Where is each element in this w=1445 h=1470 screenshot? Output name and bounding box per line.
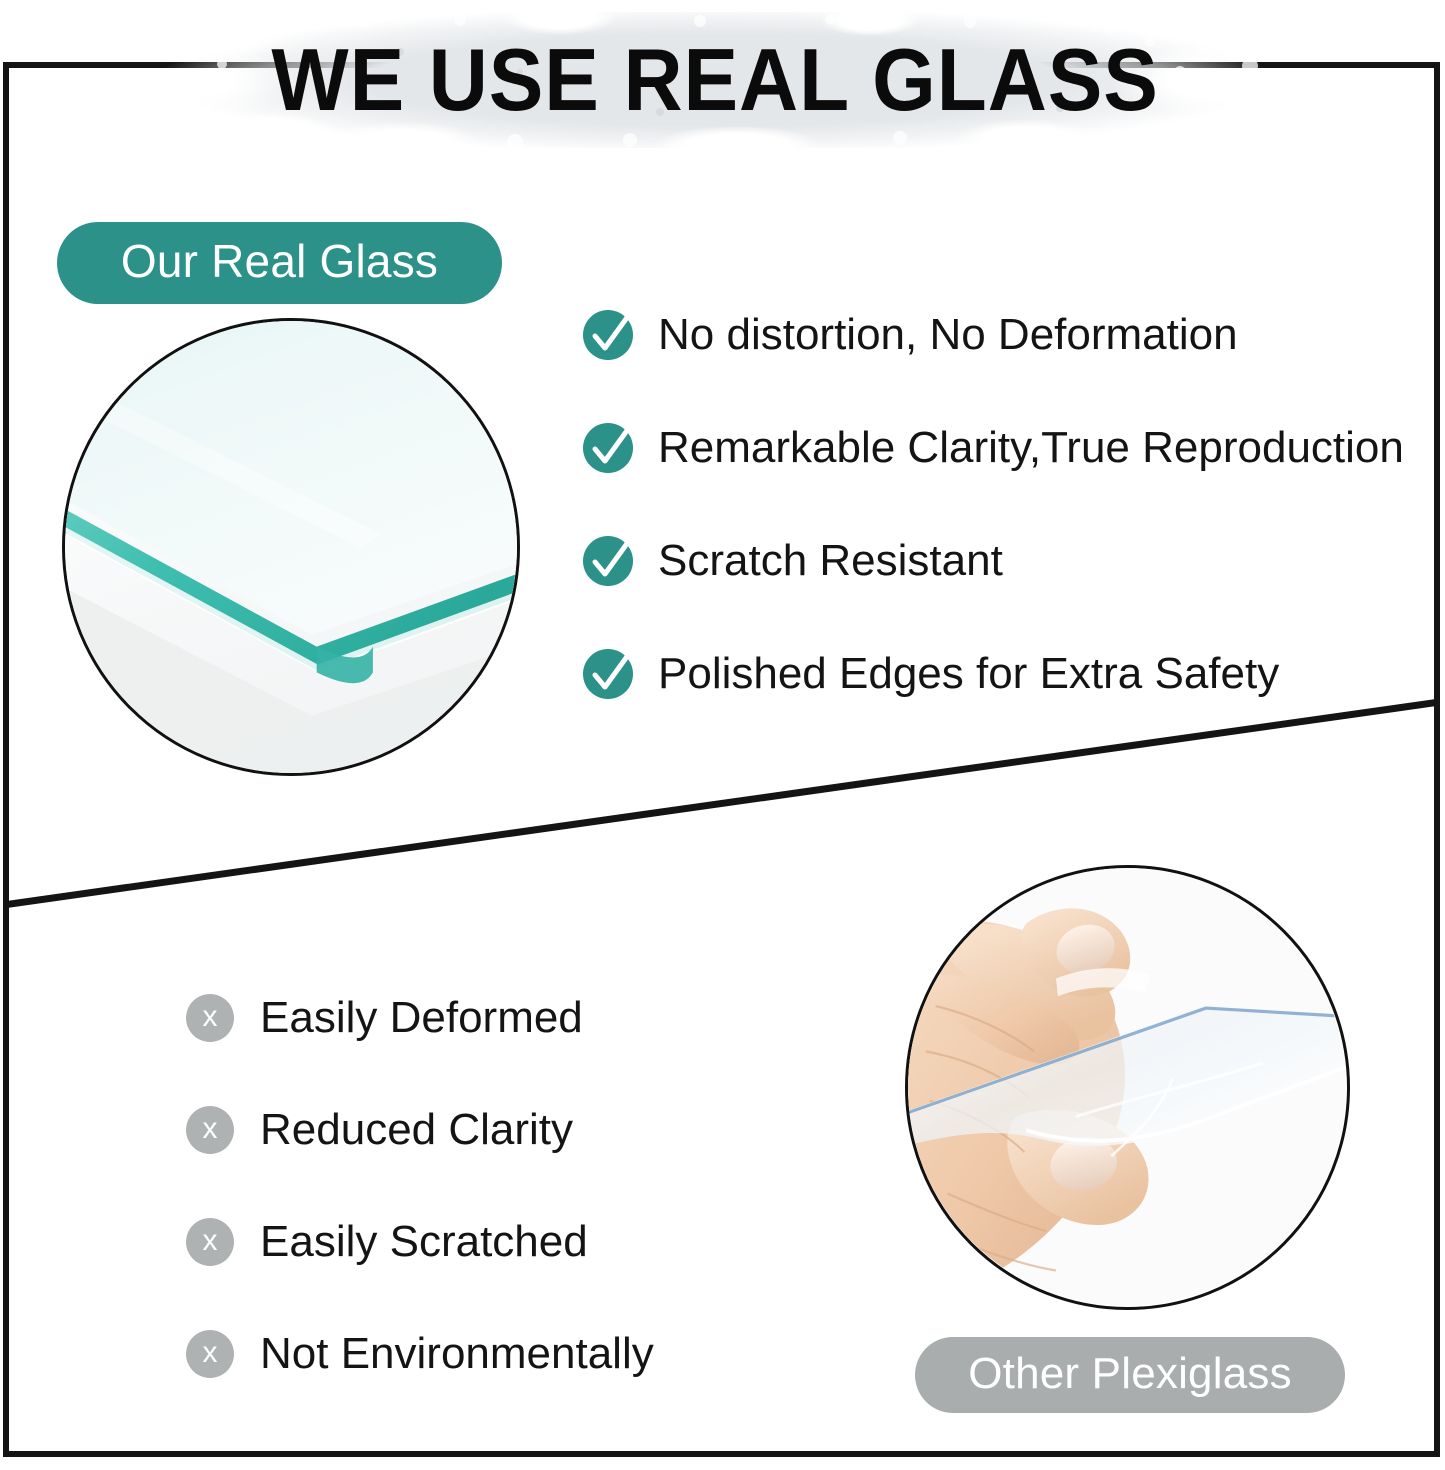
drawback-item: x Easily Deformed [186, 962, 806, 1074]
drawback-label: Easily Scratched [260, 1220, 588, 1264]
drawbacks-list: x Easily Deformed x Reduced Clarity x Ea… [186, 962, 806, 1410]
drawback-item: x Not Environmentally [186, 1298, 806, 1410]
benefit-item: Remarkable Clarity,True Reproduction [582, 391, 1432, 504]
drawback-label: Reduced Clarity [260, 1108, 573, 1152]
benefits-list: No distortion, No Deformation Remarkable… [582, 278, 1432, 730]
benefit-label: Remarkable Clarity,True Reproduction [658, 426, 1404, 470]
x-circle-icon: x [186, 994, 234, 1042]
badge-our-real-glass: Our Real Glass [57, 222, 502, 304]
x-mark: x [203, 1114, 218, 1144]
benefit-item: No distortion, No Deformation [582, 278, 1432, 391]
check-circle-icon [582, 535, 634, 587]
x-circle-icon: x [186, 1106, 234, 1154]
x-mark: x [203, 1002, 218, 1032]
check-circle-icon [582, 309, 634, 361]
benefit-label: No distortion, No Deformation [658, 313, 1238, 357]
check-circle-icon [582, 648, 634, 700]
badge-other-plexiglass: Other Plexiglass [915, 1337, 1345, 1413]
benefit-item: Polished Edges for Extra Safety [582, 617, 1432, 730]
check-circle-icon [582, 422, 634, 474]
page-title-text: WE USE REAL GLASS [271, 29, 1158, 131]
page-title: WE USE REAL GLASS [160, 29, 1270, 131]
hand-bending-plexiglass-icon [908, 868, 1347, 1307]
drawback-label: Easily Deformed [260, 996, 583, 1040]
benefit-item: Scratch Resistant [582, 504, 1432, 617]
x-mark: x [203, 1338, 218, 1368]
drawback-item: x Reduced Clarity [186, 1074, 806, 1186]
drawback-item: x Easily Scratched [186, 1186, 806, 1298]
real-glass-corner-icon [65, 321, 517, 773]
benefit-label: Polished Edges for Extra Safety [658, 652, 1279, 696]
title-banner: WE USE REAL GLASS [160, 12, 1270, 148]
benefit-label: Scratch Resistant [658, 539, 1003, 583]
infographic-poster: WE USE REAL GLASS Our Real Glass [0, 0, 1445, 1470]
x-mark: x [203, 1226, 218, 1256]
plexiglass-photo [905, 865, 1350, 1310]
drawback-label: Not Environmentally [260, 1332, 654, 1376]
badge-other-plexiglass-label: Other Plexiglass [968, 1349, 1292, 1399]
real-glass-photo [62, 318, 520, 776]
x-circle-icon: x [186, 1330, 234, 1378]
x-circle-icon: x [186, 1218, 234, 1266]
badge-our-real-glass-label: Our Real Glass [121, 234, 438, 288]
